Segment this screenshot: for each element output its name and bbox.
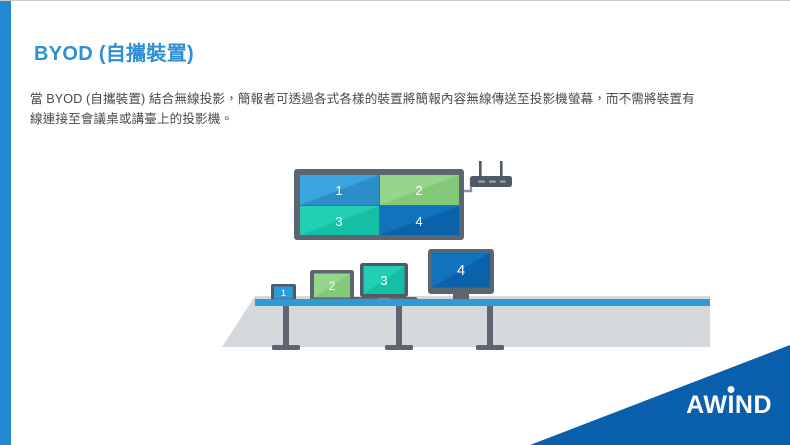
brand-corner-wedge	[530, 325, 790, 445]
table-foot-2	[385, 345, 413, 350]
page-title: BYOD (自攜裝置)	[34, 37, 194, 66]
projection-screen: 1 2 3 4	[294, 169, 464, 240]
laptop-number: 3	[380, 273, 387, 288]
illustration-diagram: 1 2 3 4 1	[0, 151, 790, 351]
antenna-right	[500, 161, 503, 177]
screen-quadrant-3-number: 3	[335, 214, 342, 229]
body-paragraph: 當 BYOD (自攜裝置) 結合無線投影，簡報者可透過各式各樣的裝置將簡報內容無…	[30, 89, 698, 129]
screen-quadrant-4-number: 4	[415, 214, 422, 229]
table-foot-3	[476, 345, 504, 350]
device-tablet: 2	[310, 270, 354, 301]
antenna-left	[479, 161, 482, 177]
brand-logo-i: I	[727, 393, 734, 418]
table-leg-1	[283, 306, 289, 348]
device-desktop-monitor: 4	[428, 249, 494, 303]
device-laptop: 3	[348, 263, 420, 301]
brand-logo: AWIND	[686, 393, 772, 418]
screen-quadrant-2-number: 2	[415, 183, 422, 198]
screen-quadrant-1-number: 1	[335, 183, 342, 198]
monitor-number: 4	[457, 262, 465, 279]
device-smartphone: 1	[271, 284, 296, 301]
brand-logo-suffix: ND	[735, 391, 772, 419]
slide-root: BYOD (自攜裝置) 當 BYOD (自攜裝置) 結合無線投影，簡報者可透過各…	[0, 0, 790, 445]
smartphone-number: 1	[281, 288, 286, 299]
table-top	[255, 299, 710, 306]
brand-logo-prefix: AW	[686, 391, 727, 419]
tablet-number: 2	[329, 279, 336, 293]
table-leg-3	[487, 306, 493, 348]
table-leg-2	[396, 306, 402, 348]
brand-logo-i-dot	[728, 386, 735, 393]
table-foot-1	[272, 345, 300, 350]
wireless-access-point	[470, 161, 512, 187]
